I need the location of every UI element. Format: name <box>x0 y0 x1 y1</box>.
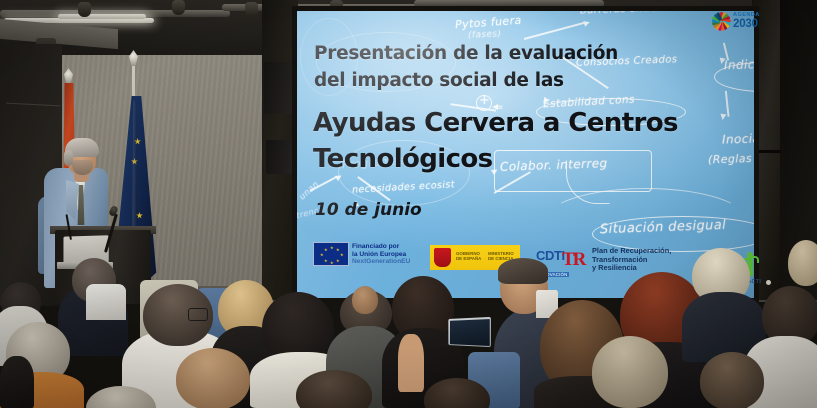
prtr-text: Plan de Recuperación, Transformación y R… <box>592 247 671 273</box>
agenda-label-bottom: 2030 <box>733 19 758 31</box>
ceiling-spotlight <box>245 2 258 17</box>
audience-collar <box>86 284 126 320</box>
speaker-hair-side <box>64 150 73 166</box>
wall-speaker <box>266 140 292 174</box>
spain-coat-of-arms-icon <box>434 248 451 267</box>
ceiling-spotlight <box>78 2 91 17</box>
prtr-logo: TR Plan de Recuperación, Transformación … <box>562 246 707 276</box>
ceiling-spotlight <box>172 0 185 15</box>
eu-funding-line2: la Unión Europea <box>352 251 410 259</box>
ceiling-light <box>58 14 146 19</box>
attendee-tablet <box>448 317 491 347</box>
sdg-wheel-icon <box>712 12 731 31</box>
prtr-mark: TR <box>562 248 588 272</box>
panel-seam <box>755 150 781 153</box>
audience-shoulder <box>398 334 424 392</box>
eu-funding-text: Financiado por la Unión Europea NextGene… <box>352 243 410 266</box>
eu-funding-line3: NextGenerationEU <box>352 258 410 266</box>
eu-funding-line1: Financiado por <box>352 243 410 251</box>
ceiling-beam <box>414 0 604 7</box>
eu-flag-logo <box>313 242 349 266</box>
spain-gov-line2: DE ESPAÑA <box>456 256 481 261</box>
audience-hair <box>498 258 548 284</box>
audience-face-profile <box>352 286 378 314</box>
audience-head <box>788 240 817 286</box>
eyeglasses <box>188 308 208 321</box>
wall-speaker <box>264 62 294 114</box>
agenda-2030-logo: AGENDA 2030 <box>712 8 758 34</box>
audience-head <box>700 352 764 408</box>
panel-screw <box>766 280 771 285</box>
conference-room-photo: Pytos fuera (fases) Barreras entrada Con… <box>0 0 817 408</box>
audience-head <box>592 336 668 408</box>
audience-body <box>0 356 34 408</box>
spain-gov-label: GOBIERNO DE ESPAÑA <box>456 251 481 261</box>
audience-head <box>176 348 250 408</box>
